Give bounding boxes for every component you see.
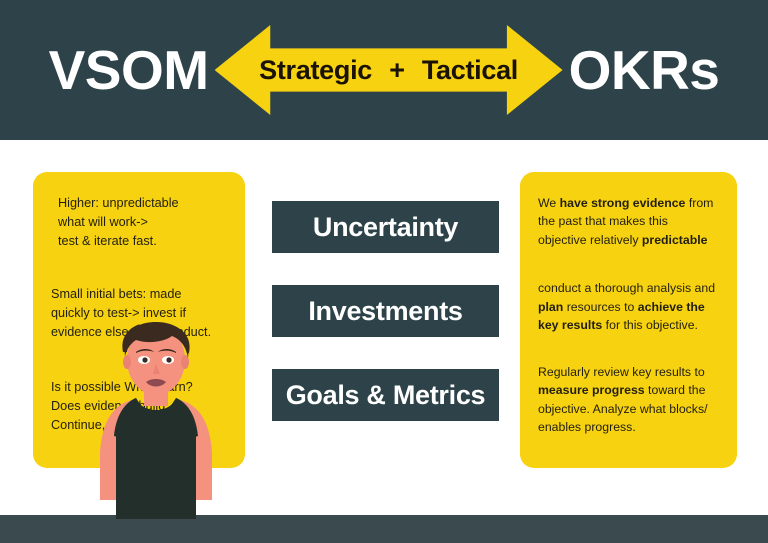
right-p1-seg-1: We <box>538 196 560 210</box>
right-p2-seg-5: for this objective. <box>602 318 698 332</box>
right-yellow-panel: We have strong evidence from the past th… <box>520 172 737 468</box>
footer-bar <box>0 515 768 543</box>
left-p2-line-1: Small initial bets: made <box>51 287 181 301</box>
right-p1-seg-4: predictable <box>642 233 708 247</box>
header-right-label: OKRs <box>569 43 720 98</box>
right-p2-seg-3: resources to <box>563 300 638 314</box>
left-p1-line-3: test & iterate fast. <box>58 234 157 248</box>
left-panel-paragraph-1: Higher: unpredictable what will work-> t… <box>51 194 227 251</box>
right-p2-seg-2: plan <box>538 300 563 314</box>
center-box-uncertainty[interactable]: Uncertainty <box>272 201 499 253</box>
right-p2-seg-1: conduct a thorough analysis and <box>538 281 715 295</box>
center-box-goals-metrics[interactable]: Goals & Metrics <box>272 369 499 421</box>
arrow-label: Strategic + Tactical <box>259 55 518 86</box>
right-p3-seg-2: measure progress <box>538 383 645 397</box>
header-content: VSOM Strategic + Tactical OKRs <box>0 0 768 140</box>
person-hands-on-hips-illustration <box>92 322 220 519</box>
center-box-goals-metrics-label: Goals & Metrics <box>286 380 486 411</box>
strategic-tactical-arrow: Strategic + Tactical <box>215 25 563 115</box>
center-box-uncertainty-label: Uncertainty <box>313 212 458 243</box>
right-panel-paragraph-2: conduct a thorough analysis and plan res… <box>538 279 719 334</box>
arrow-label-tactical: Tactical <box>422 55 518 85</box>
center-box-investments[interactable]: Investments <box>272 285 499 337</box>
right-panel-paragraph-3: Regularly review key results to measure … <box>538 363 719 437</box>
left-p1-line-2: what will work-> <box>58 215 148 229</box>
header-left-label: VSOM <box>49 43 209 98</box>
header-banner: VSOM Strategic + Tactical OKRs <box>0 0 768 140</box>
left-p1-line-1: Higher: unpredictable <box>58 196 179 210</box>
right-p3-seg-1: Regularly review key results to <box>538 365 705 379</box>
right-p1-seg-2: have strong evidence <box>560 196 689 210</box>
arrow-label-strategic: Strategic <box>259 55 372 85</box>
right-panel-paragraph-1: We have strong evidence from the past th… <box>538 194 719 249</box>
left-p2-line-2: quickly to test-> invest if <box>51 306 186 320</box>
center-box-investments-label: Investments <box>308 296 462 327</box>
arrow-label-plus: + <box>389 55 404 85</box>
